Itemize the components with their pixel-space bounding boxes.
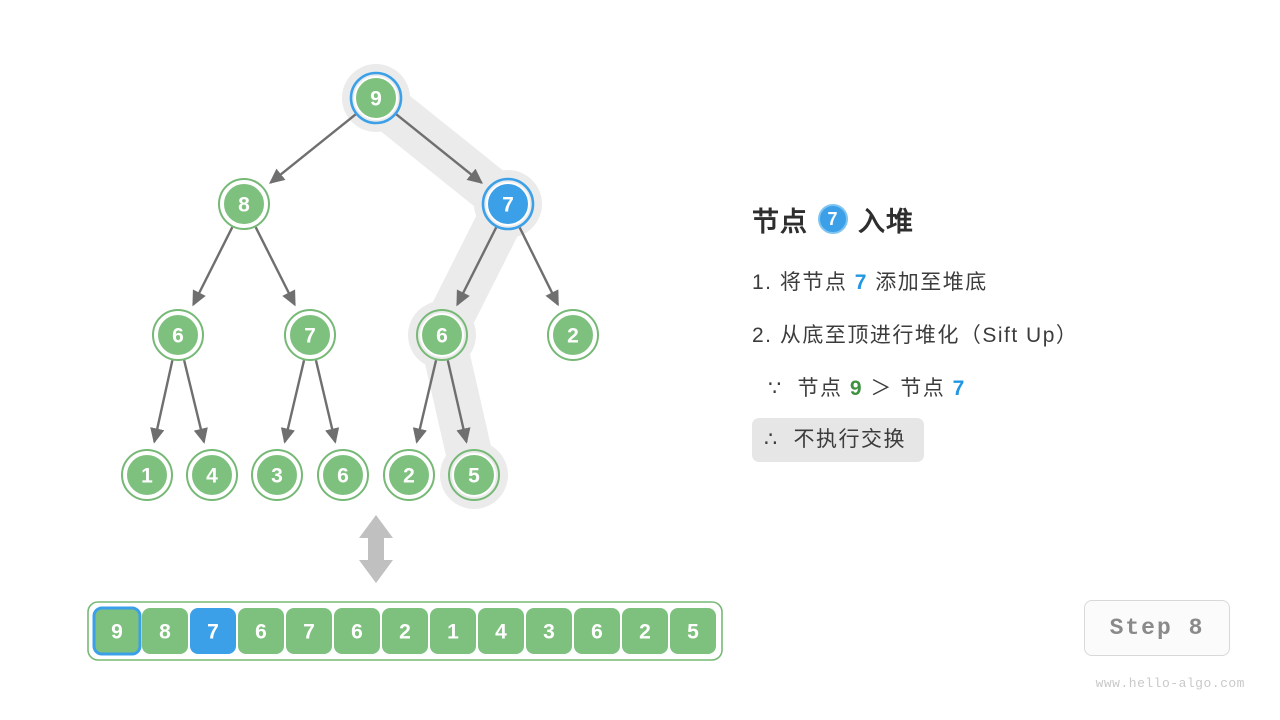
tree-node-6[interactable]: 6	[153, 310, 203, 360]
reason-right-value: 7	[953, 377, 966, 400]
array-cell-value: 2	[639, 621, 651, 644]
double-arrow-icon	[359, 515, 393, 583]
tree-edge	[520, 227, 558, 304]
diagram-stage: 9876762143625 9876762143625 节点 7 入堆 1. 将…	[0, 0, 1280, 720]
array-cell-value: 7	[207, 621, 219, 644]
tree-node-3[interactable]: 3	[252, 450, 302, 500]
tree-edge	[316, 360, 335, 442]
node-value: 2	[403, 465, 415, 488]
heap-array: 9876762143625	[88, 602, 722, 660]
tree-node-1[interactable]: 1	[122, 450, 172, 500]
array-cell-6[interactable]: 2	[382, 608, 428, 654]
highlight-ribbon	[376, 98, 508, 475]
step-badge: Step 8	[1084, 600, 1230, 656]
array-cell-value: 4	[495, 621, 507, 644]
therefore-symbol: ∴	[764, 428, 779, 451]
array-cell-value: 6	[255, 621, 267, 644]
tree-edge	[193, 227, 232, 304]
tree-node-7[interactable]: 7	[483, 179, 533, 229]
tree-edge	[256, 227, 295, 304]
step-1-text: 1. 将节点	[752, 271, 847, 294]
node-value: 3	[271, 465, 283, 488]
node-value: 4	[206, 465, 218, 488]
tree-node-4[interactable]: 4	[187, 450, 237, 500]
step-1-tail: 添加至堆底	[875, 271, 988, 294]
step-1: 1. 将节点 7 添加至堆底	[752, 266, 1232, 300]
reason-mid: 节点	[900, 377, 945, 400]
steps-list: 1. 将节点 7 添加至堆底 2. 从底至顶进行堆化（Sift Up） ∵ 节点…	[752, 266, 1232, 481]
array-cell-value: 6	[351, 621, 363, 644]
array-cell-7[interactable]: 1	[430, 608, 476, 654]
node-value: 2	[567, 325, 579, 348]
panel-title-badge: 7	[818, 204, 848, 234]
tree-node-9[interactable]: 9	[351, 73, 401, 123]
sift-up-highlight-path	[376, 98, 508, 475]
step-1-value: 7	[855, 271, 868, 294]
tree-node-6[interactable]: 6	[417, 310, 467, 360]
tree-node-2[interactable]: 2	[384, 450, 434, 500]
panel-title-prefix: 节点	[752, 200, 808, 239]
array-cell-value: 9	[111, 621, 123, 644]
tree-node-5[interactable]: 5	[449, 450, 499, 500]
array-cell-value: 1	[447, 621, 459, 644]
tree-edge	[154, 360, 172, 441]
tree-node-7[interactable]: 7	[285, 310, 335, 360]
array-cell-5[interactable]: 6	[334, 608, 380, 654]
node-value: 6	[436, 325, 448, 348]
tree-edge	[417, 360, 436, 442]
node-value: 9	[370, 88, 382, 111]
node-value: 6	[337, 465, 349, 488]
array-cell-value: 6	[591, 621, 603, 644]
tree-node-6[interactable]: 6	[318, 450, 368, 500]
reason-line: ∵ 节点 9 ＞ 节点 7	[768, 372, 1232, 406]
tree-edge	[184, 360, 204, 442]
array-cell-value: 8	[159, 621, 171, 644]
node-value: 7	[304, 325, 316, 348]
step-2: 2. 从底至顶进行堆化（Sift Up）	[752, 319, 1232, 353]
array-cell-value: 3	[543, 621, 555, 644]
array-cell-3[interactable]: 6	[238, 608, 284, 654]
node-value: 6	[172, 325, 184, 348]
array-cell-9[interactable]: 3	[526, 608, 572, 654]
node-value: 5	[468, 465, 480, 488]
array-cell-4[interactable]: 7	[286, 608, 332, 654]
watermark: www.hello-algo.com	[1070, 676, 1245, 691]
reason-operator: ＞	[870, 377, 893, 400]
panel-title-suffix: 入堆	[858, 200, 914, 239]
tree-edge	[285, 360, 304, 442]
tree-edges	[154, 114, 558, 442]
array-cell-value: 7	[303, 621, 315, 644]
panel-title: 节点 7 入堆	[752, 196, 1232, 242]
conclusion-line: ∴ 不执行交换	[752, 418, 924, 462]
array-cell-1[interactable]: 8	[142, 608, 188, 654]
array-cell-0[interactable]: 9	[94, 608, 140, 654]
reason-left-value: 9	[850, 377, 863, 400]
reason-pre: 节点	[798, 377, 843, 400]
array-cell-11[interactable]: 2	[622, 608, 668, 654]
conclusion-text: 不执行交换	[794, 428, 907, 451]
explanation-panel: 节点 7 入堆 1. 将节点 7 添加至堆底 2. 从底至顶进行堆化（Sift …	[752, 196, 1232, 481]
array-cell-8[interactable]: 4	[478, 608, 524, 654]
array-cell-2[interactable]: 7	[190, 608, 236, 654]
tree-edge	[271, 114, 356, 182]
array-cell-12[interactable]: 5	[670, 608, 716, 654]
tree-node-8[interactable]: 8	[219, 179, 269, 229]
node-value: 7	[502, 194, 514, 217]
node-value: 8	[238, 194, 250, 217]
because-symbol: ∵	[768, 377, 783, 400]
tree-nodes: 9876762143625	[122, 73, 598, 500]
tree-node-2[interactable]: 2	[548, 310, 598, 360]
array-cell-value: 2	[399, 621, 411, 644]
array-cell-value: 5	[687, 621, 699, 644]
node-value: 1	[141, 465, 153, 488]
array-cell-10[interactable]: 6	[574, 608, 620, 654]
